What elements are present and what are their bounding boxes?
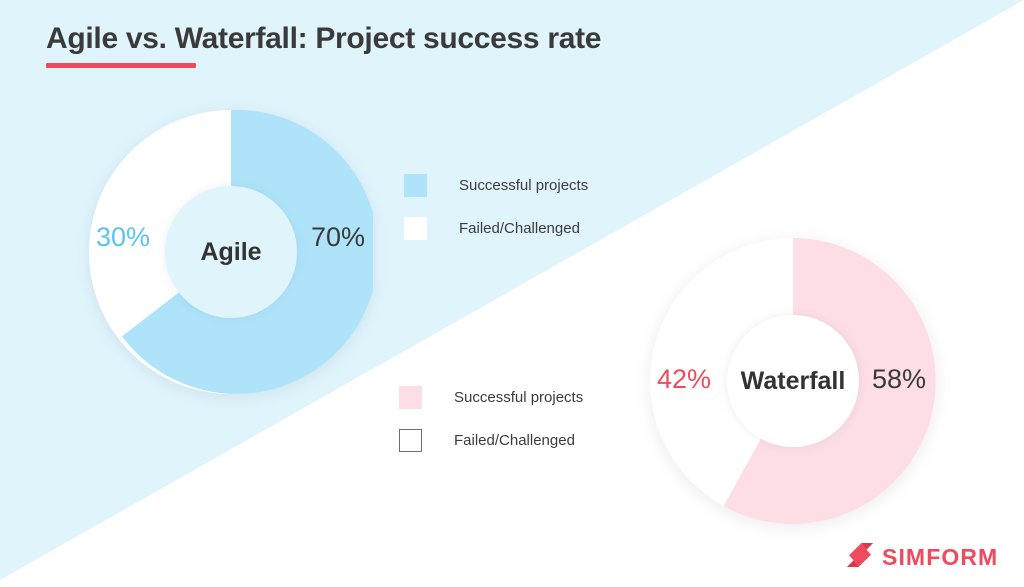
waterfall-success-percentage: 58% (872, 364, 926, 395)
waterfall-donut-hole: Waterfall (727, 315, 859, 447)
legend-swatch-failed (399, 429, 422, 452)
waterfall-legend: Successful projects Failed/Challenged (399, 383, 583, 469)
legend-swatch-successful (404, 174, 427, 197)
agile-legend: Successful projects Failed/Challenged (404, 171, 588, 257)
legend-swatch-successful (399, 386, 422, 409)
legend-item[interactable]: Failed/Challenged (399, 426, 583, 454)
legend-item[interactable]: Successful projects (399, 383, 583, 411)
legend-item[interactable]: Failed/Challenged (404, 214, 588, 242)
agile-donut-hole: Agile (165, 186, 297, 318)
legend-label-successful: Successful projects (459, 177, 588, 194)
legend-item[interactable]: Successful projects (404, 171, 588, 199)
legend-label-failed: Failed/Challenged (459, 220, 580, 237)
legend-label-failed: Failed/Challenged (454, 432, 575, 449)
page-title-block: Agile vs. Waterfall: Project success rat… (46, 20, 601, 68)
infographic-canvas: Agile vs. Waterfall: Project success rat… (0, 0, 1024, 587)
title-underline-accent (46, 63, 196, 68)
agile-failed-percentage: 30% (96, 222, 150, 253)
simform-logo[interactable]: SIMFORM (845, 540, 998, 575)
waterfall-center-label: Waterfall (741, 367, 846, 396)
page-title: Agile vs. Waterfall: Project success rat… (46, 20, 601, 58)
simform-wordmark: SIMFORM (882, 546, 998, 569)
agile-center-label: Agile (200, 238, 261, 267)
agile-success-percentage: 70% (311, 222, 365, 253)
simform-arrow-logo-icon (845, 540, 875, 575)
legend-swatch-failed (404, 217, 427, 240)
legend-label-successful: Successful projects (454, 389, 583, 406)
waterfall-failed-percentage: 42% (657, 364, 711, 395)
